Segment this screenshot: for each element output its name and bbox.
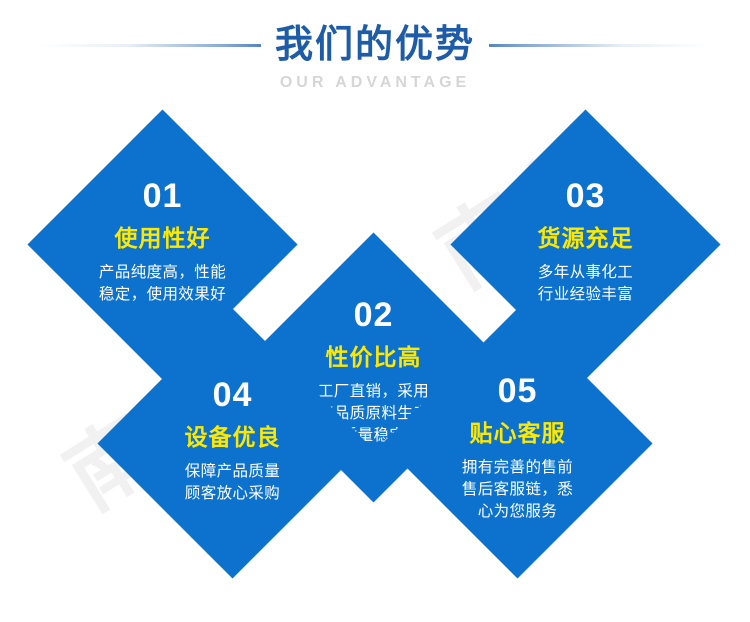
title-rule-left xyxy=(39,44,261,47)
advantage-card-content: 04 设备优良 保障产品质量 顾客放心采购 xyxy=(137,348,328,539)
advantage-heading: 设备优良 xyxy=(185,426,281,449)
advantage-description: 拥有完善的售前 售后客服链，悉 心为您服务 xyxy=(462,457,573,523)
advantage-card-05[interactable]: 05 贴心客服 拥有完善的售前 售后客服链，悉 心为您服务 xyxy=(382,308,652,578)
advantage-number: 04 xyxy=(213,378,253,412)
advantage-heading: 贴心客服 xyxy=(470,422,566,445)
advantage-card-content: 05 贴心客服 拥有完善的售前 售后客服链，悉 心为您服务 xyxy=(422,348,613,539)
advantage-description: 产品纯度高，性能 稳定，使用效果好 xyxy=(99,262,226,306)
title-rule-right xyxy=(489,44,711,47)
advantage-number: 01 xyxy=(143,179,183,213)
advantage-card-04[interactable]: 04 设备优良 保障产品质量 顾客放心采购 xyxy=(97,308,367,578)
title-row: 我们的优势 xyxy=(0,22,750,68)
advantage-number: 02 xyxy=(354,298,394,332)
page-subtitle: OUR ADVANTAGE xyxy=(0,74,750,92)
advantage-infographic: 我们的优势 OUR ADVANTAGE 南京 南京 01 使用性好 产品纯度高，… xyxy=(0,0,750,622)
advantage-heading: 使用性好 xyxy=(115,227,211,250)
advantage-number: 05 xyxy=(498,374,538,408)
advantage-number: 03 xyxy=(566,179,606,213)
advantage-heading: 货源充足 xyxy=(538,227,634,250)
page-header: 我们的优势 OUR ADVANTAGE xyxy=(0,0,750,100)
advantage-heading: 性价比高 xyxy=(326,346,422,369)
advantage-description: 保障产品质量 顾客放心采购 xyxy=(185,461,280,505)
page-title: 我们的优势 xyxy=(261,22,489,68)
advantage-description: 多年从事化工 行业经验丰富 xyxy=(538,262,633,306)
